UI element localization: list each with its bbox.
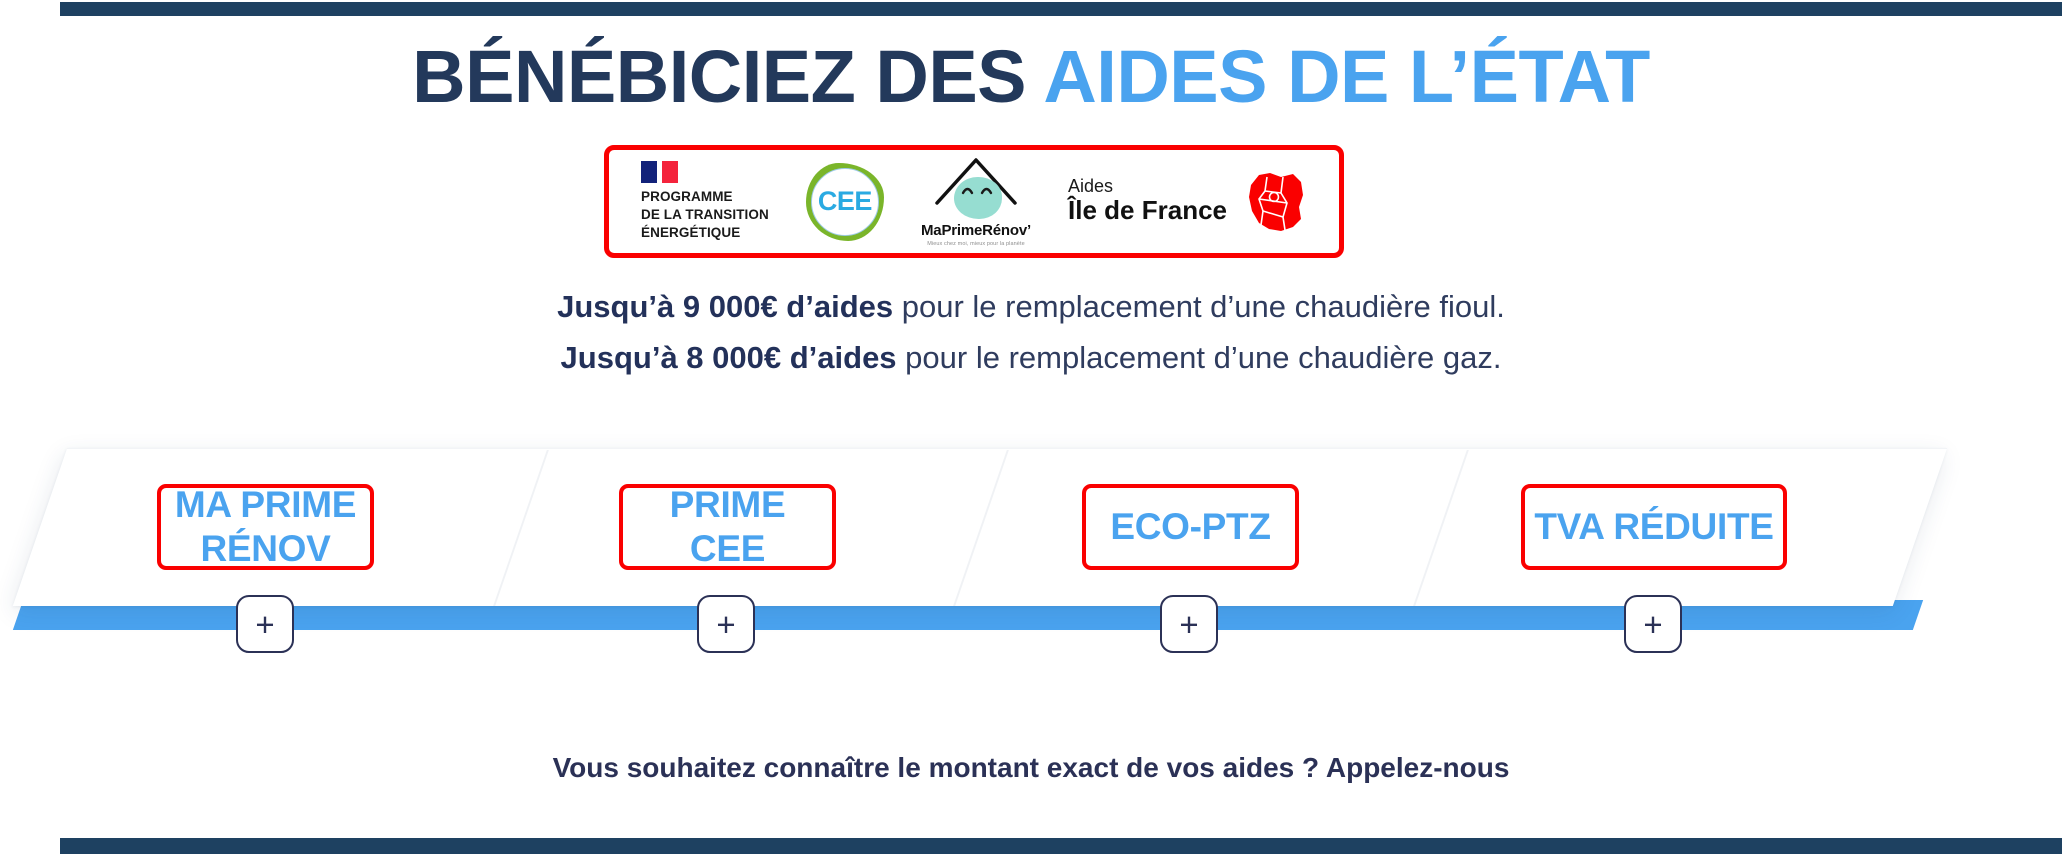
- maprimerenov-label: MaPrimeRénov’: [921, 222, 1031, 239]
- page-title-dark-part: BÉNÉBICIEZ DES: [412, 35, 1043, 118]
- aid-box-ma-prime-renov[interactable]: MA PRIME RÉNOV: [157, 484, 374, 570]
- ile-de-france-map-icon: [1237, 165, 1311, 239]
- aid-box-label-prime-cee: PRIME CEE: [670, 483, 786, 570]
- maprimerenov-tagline: Mieux chez moi, mieux pour la planète: [927, 241, 1025, 247]
- expand-plus-button-prime-cee[interactable]: +: [697, 595, 755, 653]
- aid-box-tva-reduite[interactable]: TVA RÉDUITE: [1521, 484, 1787, 570]
- aid-box-label-eco-ptz: ECO-PTZ: [1110, 505, 1270, 549]
- contact-question-text: Vous souhaitez connaître le montant exac…: [0, 752, 2062, 784]
- aid-box-label-tva-reduite: TVA RÉDUITE: [1534, 505, 1773, 549]
- aid-box-prime-cee[interactable]: PRIME CEE: [619, 484, 836, 570]
- aid-amount-gaz-bold: Jusqu’à 8 000€ d’aides: [561, 340, 897, 375]
- aid-amount-fioul-rest: pour le remplacement d’une chaudière fio…: [893, 289, 1505, 324]
- plus-icon: +: [1179, 608, 1198, 641]
- plus-icon: +: [1643, 608, 1662, 641]
- plus-icon: +: [716, 608, 735, 641]
- logo-programme-transition-energetique: PROGRAMME DE LA TRANSITION ÉNERGÉTIQUE: [641, 161, 769, 241]
- aids-band: MA PRIME RÉNOV + PRIME CEE + ECO-PTZ + T…: [0, 438, 2062, 658]
- aid-amount-line-gaz: Jusqu’à 8 000€ d’aides pour le remplacem…: [0, 333, 2062, 384]
- top-divider-rule: [60, 2, 2062, 16]
- cee-label: CEE: [806, 163, 884, 241]
- logo-programme-line-2: DE LA TRANSITION: [641, 206, 769, 224]
- aid-box-eco-ptz[interactable]: ECO-PTZ: [1082, 484, 1299, 570]
- bottom-divider-rule: [60, 838, 2062, 854]
- logo-aides-ile-de-france: Aides Île de France: [1068, 165, 1311, 239]
- logo-programme-line-1: PROGRAMME: [641, 188, 733, 206]
- aid-amount-lines: Jusqu’à 9 000€ d’aides pour le remplacem…: [0, 282, 2062, 383]
- aid-amount-gaz-rest: pour le remplacement d’une chaudière gaz…: [897, 340, 1502, 375]
- logo-cee: CEE: [806, 163, 884, 241]
- cee-badge-icon: CEE: [806, 163, 884, 241]
- house-roof-icon: [930, 157, 1022, 219]
- logo-maprimerenov: MaPrimeRénov’ Mieux chez moi, mieux pour…: [921, 157, 1031, 247]
- french-flag-icon: [641, 161, 678, 183]
- plus-icon: +: [255, 608, 274, 641]
- aid-amount-fioul-bold: Jusqu’à 9 000€ d’aides: [557, 289, 893, 324]
- expand-plus-button-tva-reduite[interactable]: +: [1624, 595, 1682, 653]
- expand-plus-button-eco-ptz[interactable]: +: [1160, 595, 1218, 653]
- page-title-light-part: AIDES DE L’ÉTAT: [1043, 35, 1649, 118]
- aid-box-label-ma-prime-renov: MA PRIME RÉNOV: [175, 483, 356, 570]
- logo-programme-line-3: ÉNERGÉTIQUE: [641, 224, 740, 242]
- expand-plus-button-ma-prime-renov[interactable]: +: [236, 595, 294, 653]
- page-title: BÉNÉBICIEZ DES AIDES DE L’ÉTAT: [0, 38, 2062, 116]
- partner-logo-strip: PROGRAMME DE LA TRANSITION ÉNERGÉTIQUE C…: [604, 145, 1344, 258]
- page-root: BÉNÉBICIEZ DES AIDES DE L’ÉTAT PROGRAMME…: [0, 0, 2062, 854]
- idf-line-2: Île de France: [1068, 196, 1227, 226]
- smiling-eyes-icon: [961, 184, 995, 196]
- aid-amount-line-fioul: Jusqu’à 9 000€ d’aides pour le remplacem…: [0, 282, 2062, 333]
- idf-line-1: Aides: [1068, 177, 1227, 197]
